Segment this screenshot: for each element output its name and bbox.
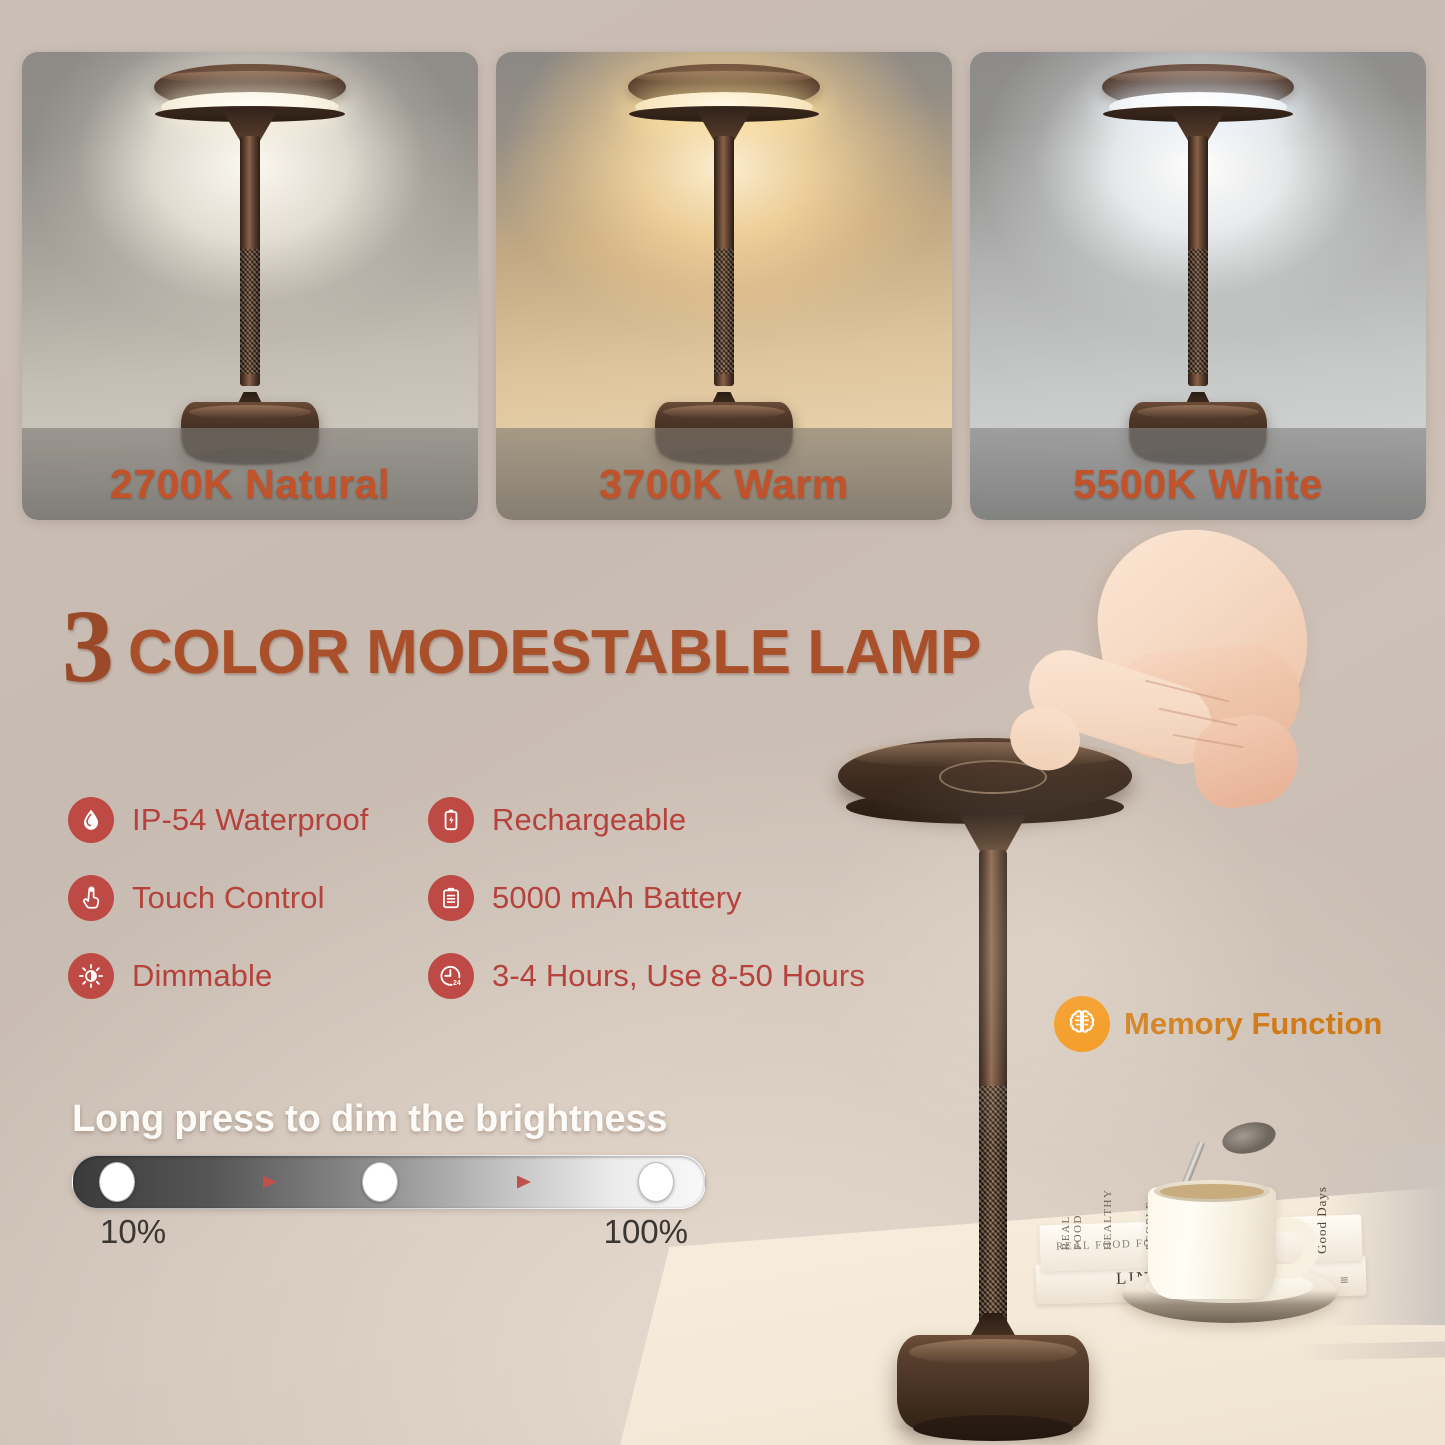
feature-label: Rechargeable: [492, 802, 686, 838]
panel-3700k-warm[interactable]: 3700K Warm: [496, 52, 952, 520]
svg-text:24: 24: [453, 979, 461, 986]
feature-touch-control: Touch Control: [68, 870, 428, 926]
main-lamp[interactable]: [838, 738, 1148, 1445]
hand-pressing-button: [1008, 520, 1308, 830]
water-drop-icon: [68, 797, 114, 843]
feature-label: 3-4 Hours, Use 8-50 Hours: [492, 958, 865, 994]
lamp-illustration: [145, 64, 355, 464]
lamp-knurled-grip: [1188, 249, 1208, 374]
lamp-illustration: [619, 64, 829, 464]
lamp-knurled-grip: [714, 249, 734, 374]
battery-list-icon: [428, 875, 474, 921]
book-publisher-logo: ≡: [1339, 1273, 1348, 1290]
panel-label-5500k: 5500K White: [970, 461, 1426, 508]
brightness-icon: [68, 953, 114, 999]
feature-label: 5000 mAh Battery: [492, 880, 742, 916]
lamp-illustration: [1093, 64, 1303, 464]
panel-label-3700k: 3700K Warm: [496, 461, 952, 508]
feature-dimmable: Dimmable: [68, 948, 428, 1004]
headline: 3 COLOR MODESTABLE LAMP: [62, 604, 981, 689]
dimmer-title: Long press to dim the brightness: [72, 1098, 772, 1141]
panel-2700k-natural[interactable]: 2700K Natural: [22, 52, 478, 520]
feature-label: Touch Control: [132, 880, 325, 916]
feature-waterproof: IP-54 Waterproof: [68, 792, 428, 848]
clock-24-icon: 24: [428, 953, 474, 999]
headline-text: COLOR MODESTABLE LAMP: [128, 622, 981, 689]
lamp-base: [897, 1335, 1089, 1429]
battery-bolt-icon: [428, 797, 474, 843]
feature-label: IP-54 Waterproof: [132, 802, 369, 838]
panel-label-2700k: 2700K Natural: [22, 461, 478, 508]
lamp-knurled-grip: [979, 1086, 1007, 1318]
feature-list: IP-54 Waterproof Rechargeable Touch Cont…: [68, 792, 928, 1004]
lamp-knurled-grip: [240, 249, 260, 374]
panel-5500k-white[interactable]: 5500K White: [970, 52, 1426, 520]
color-temperature-panels: 2700K Natural 3700K Warm: [22, 52, 1426, 520]
memory-function-label: Memory Function: [1124, 1006, 1382, 1042]
coffee-mug: [1148, 1187, 1276, 1299]
product-infographic: 2700K Natural 3700K Warm: [0, 0, 1445, 1445]
touch-hand-icon: [68, 875, 114, 921]
feature-label: Dimmable: [132, 958, 272, 994]
headline-number: 3: [62, 604, 114, 689]
desk-edge: [1295, 1341, 1445, 1360]
